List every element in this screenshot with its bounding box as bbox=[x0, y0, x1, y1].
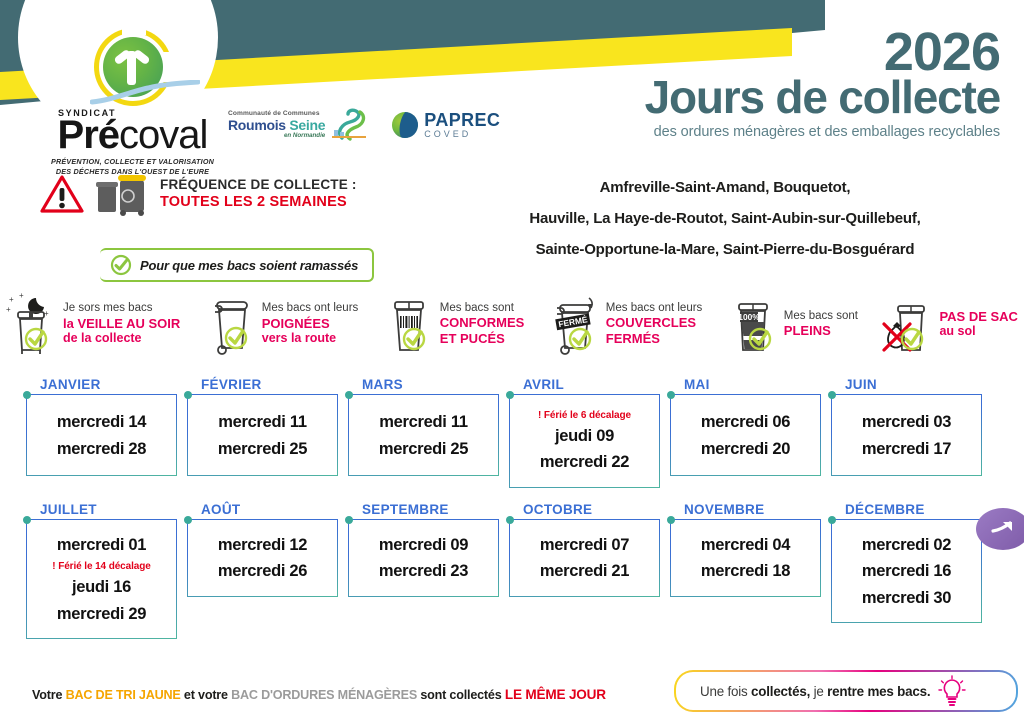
footer-bac-om: BAC D'ORDURES MÉNAGÈRES bbox=[231, 688, 417, 702]
footer-meme-jour: LE MÊME JOUR bbox=[505, 687, 606, 702]
month-corner-dot bbox=[345, 516, 353, 524]
month-name: MAI bbox=[670, 377, 710, 392]
svg-text:+: + bbox=[6, 305, 11, 314]
frequency-text: FRÉQUENCE DE COLLECTE : TOUTES LES 2 SEM… bbox=[160, 177, 357, 212]
year-label: 2026 bbox=[645, 30, 1000, 76]
arrow-right-icon bbox=[990, 518, 1016, 540]
month-corner-dot bbox=[23, 391, 31, 399]
month-name: JUIN bbox=[831, 377, 877, 392]
footer-same-day-note: Votre BAC DE TRI JAUNE et votre BAC D'OR… bbox=[32, 687, 606, 702]
month-dates-box: mercredi 03mercredi 17 bbox=[831, 394, 982, 476]
collection-date: jeudi 16 bbox=[72, 576, 131, 599]
month-name: AOÛT bbox=[187, 502, 240, 517]
collection-date: mercredi 17 bbox=[862, 438, 951, 461]
instruction-3-grey: Mes bacs ont leurs bbox=[606, 302, 703, 316]
paprec-coved-logo: PAPREC COVED bbox=[392, 111, 500, 139]
paprec-name: PAPREC bbox=[424, 111, 500, 129]
collection-calendar-poster: SYNDICAT Précoval PRÉVENTION, COLLECTE E… bbox=[0, 0, 1024, 724]
month-dates-box: mercredi 01! Férié le 14 décalagejeudi 1… bbox=[26, 519, 177, 639]
month-name: DÉCEMBRE bbox=[831, 502, 925, 517]
month-card: JUINmercredi 03mercredi 17 bbox=[831, 376, 982, 488]
collection-date: mercredi 25 bbox=[218, 438, 307, 461]
collection-date: mercredi 03 bbox=[862, 411, 951, 434]
month-corner-dot bbox=[828, 391, 836, 399]
month-dates-box: mercredi 11mercredi 25 bbox=[187, 394, 338, 476]
instruction-1-pink1: POIGNÉES bbox=[262, 316, 359, 331]
commune-line-2: Hauville, La Haye-de-Routot, Saint-Aubin… bbox=[440, 203, 1010, 234]
month-name: OCTOBRE bbox=[509, 502, 592, 517]
instruction-item-poignees: Mes bacs ont leurs POIGNÉES vers la rout… bbox=[205, 292, 359, 356]
collection-date: mercredi 01 bbox=[57, 534, 146, 557]
month-card: DÉCEMBREmercredi 02mercredi 16mercredi 3… bbox=[831, 501, 982, 639]
paprec-text: PAPREC COVED bbox=[424, 111, 500, 139]
roumois-line2: Roumois Seine bbox=[228, 118, 325, 133]
collection-date: mercredi 11 bbox=[379, 411, 467, 434]
logo-word-accent: Pré bbox=[58, 113, 120, 157]
frequency-value: TOUTES LES 2 SEMAINES bbox=[160, 193, 357, 211]
bin-closed-icon: FERMÉ bbox=[549, 292, 601, 356]
lightbulb-icon bbox=[938, 675, 966, 707]
tip-b: collectés, bbox=[751, 684, 810, 699]
instruction-2-pink1: CONFORMES bbox=[440, 315, 525, 330]
instruction-text-poignees: Mes bacs ont leurs POIGNÉES vers la rout… bbox=[262, 302, 359, 346]
partner-logos: Communauté de Communes Roumois Seine en … bbox=[228, 108, 500, 142]
instruction-4-pink1: PLEINS bbox=[784, 323, 858, 338]
month-card: JANVIERmercredi 14mercredi 28 bbox=[26, 376, 177, 488]
month-card: MARSmercredi 11mercredi 25 bbox=[348, 376, 499, 488]
svg-text:+: + bbox=[19, 292, 24, 300]
instruction-item-conformes: Mes bacs sont CONFORMES ET PUCÉS bbox=[383, 292, 525, 356]
footer-tip-pill: Une fois collectés, je rentre mes bacs. bbox=[674, 670, 1018, 712]
instruction-item-couvercles: FERMÉ Mes bacs ont leurs COUVERCLES FERM… bbox=[549, 292, 703, 356]
month-name: JUILLET bbox=[26, 502, 97, 517]
month-dates-box: mercredi 02mercredi 16mercredi 30 bbox=[831, 519, 982, 623]
collection-date: mercredi 26 bbox=[218, 560, 307, 583]
collection-date: mercredi 30 bbox=[862, 587, 951, 610]
month-corner-dot bbox=[506, 391, 514, 399]
month-name: FÉVRIER bbox=[187, 377, 262, 392]
month-corner-dot bbox=[184, 516, 192, 524]
svg-text:+: + bbox=[9, 295, 14, 304]
instruction-5-pink2: au sol bbox=[939, 324, 1018, 339]
logo-word-rest: coval bbox=[119, 113, 207, 157]
collection-date: mercredi 07 bbox=[540, 534, 629, 557]
frequency-block: FRÉQUENCE DE COLLECTE : TOUTES LES 2 SEM… bbox=[40, 172, 357, 216]
month-dates-box: mercredi 11mercredi 25 bbox=[348, 394, 499, 476]
instruction-1-grey: Mes bacs ont leurs bbox=[262, 302, 359, 316]
month-corner-dot bbox=[506, 516, 514, 524]
frequency-label: FRÉQUENCE DE COLLECTE : bbox=[160, 177, 357, 194]
month-corner-dot bbox=[667, 391, 675, 399]
logo-wordmark: Précoval bbox=[30, 116, 235, 154]
month-corner-dot bbox=[828, 516, 836, 524]
bin-handles-icon bbox=[205, 292, 257, 356]
collection-date: jeudi 09 bbox=[555, 425, 614, 448]
ramassage-banner-text: Pour que mes bacs soient ramassés bbox=[140, 258, 358, 273]
instruction-text-veille: Je sors mes bacs la VEILLE AU SOIR de la… bbox=[63, 302, 180, 346]
month-name: MARS bbox=[348, 377, 403, 392]
footer-p1: Votre bbox=[32, 688, 66, 702]
month-dates-box: mercredi 12mercredi 26 bbox=[187, 519, 338, 597]
footer-bac-jaune: BAC DE TRI JAUNE bbox=[66, 688, 181, 702]
calendar-row-2: JUILLETmercredi 01! Férié le 14 décalage… bbox=[26, 501, 998, 639]
month-dates-box: mercredi 14mercredi 28 bbox=[26, 394, 177, 476]
collection-date: mercredi 04 bbox=[701, 534, 790, 557]
instruction-3-pink1: COUVERCLES bbox=[606, 315, 703, 330]
instruction-item-pas-de-sac: PAS DE SAC au sol bbox=[882, 292, 1018, 356]
month-dates-box: mercredi 09mercredi 23 bbox=[348, 519, 499, 597]
instruction-0-pink2: de la collecte bbox=[63, 331, 180, 346]
holiday-note: ! Férié le 14 décalage bbox=[52, 560, 150, 573]
footer-tip-text: Une fois collectés, je rentre mes bacs. bbox=[700, 684, 930, 699]
collection-date: mercredi 14 bbox=[57, 411, 146, 434]
ramassage-banner: Pour que mes bacs soient ramassés bbox=[100, 248, 374, 282]
paprec-globe-icon bbox=[392, 112, 418, 138]
instruction-item-pleins: 100% Mes bacs sont PLEINS bbox=[727, 292, 858, 356]
river-swoosh-icon bbox=[90, 80, 200, 106]
instruction-4-grey: Mes bacs sont bbox=[784, 310, 858, 324]
month-corner-dot bbox=[184, 391, 192, 399]
no-bag-icon bbox=[882, 292, 934, 356]
bin-barcode-icon bbox=[383, 292, 435, 356]
collection-date: mercredi 16 bbox=[862, 560, 951, 583]
roumois-seine-mark-icon bbox=[328, 108, 370, 142]
instructions-row: ++++ Je sors mes bacs la VEILLE AU SOIR … bbox=[6, 288, 1018, 360]
calendar-grid: JANVIERmercredi 14mercredi 28FÉVRIERmerc… bbox=[26, 376, 998, 652]
check-circle-icon bbox=[110, 254, 132, 276]
month-name: NOVEMBRE bbox=[670, 502, 764, 517]
logo-ring-gap-top bbox=[122, 25, 146, 35]
month-corner-dot bbox=[23, 516, 31, 524]
cent-pourcent-label: 100% bbox=[738, 312, 760, 322]
collection-date: mercredi 02 bbox=[862, 534, 951, 557]
commune-line-1: Amfreville-Saint-Amand, Bouquetot, bbox=[440, 172, 1010, 203]
month-name: SEPTEMBRE bbox=[348, 502, 449, 517]
collection-date: mercredi 18 bbox=[701, 560, 790, 583]
month-card: AVRIL! Férié le 6 décalagejeudi 09mercre… bbox=[509, 376, 660, 488]
collection-date: mercredi 11 bbox=[218, 411, 306, 434]
roumois-seine-logo: Communauté de Communes Roumois Seine en … bbox=[228, 108, 370, 142]
month-card: AOÛTmercredi 12mercredi 26 bbox=[187, 501, 338, 639]
page-subtitle: des ordures ménagères et des emballages … bbox=[645, 124, 1000, 140]
collection-date: mercredi 25 bbox=[379, 438, 468, 461]
bin-full-icon: 100% bbox=[727, 292, 779, 356]
instruction-text-couvercles: Mes bacs ont leurs COUVERCLES FERMÉS bbox=[606, 302, 703, 346]
two-bins-icon bbox=[94, 172, 150, 216]
tip-d: rentre mes bacs. bbox=[827, 684, 930, 699]
month-card: MAImercredi 06mercredi 20 bbox=[670, 376, 821, 488]
month-card: FÉVRIERmercredi 11mercredi 25 bbox=[187, 376, 338, 488]
collection-date: mercredi 21 bbox=[540, 560, 629, 583]
collection-date: mercredi 28 bbox=[57, 438, 146, 461]
month-corner-dot bbox=[345, 391, 353, 399]
footer-p5: sont collectés bbox=[417, 688, 505, 702]
collection-date: mercredi 29 bbox=[57, 603, 146, 626]
roumois-line3: en Normandie bbox=[228, 133, 325, 140]
collection-date: mercredi 06 bbox=[701, 411, 790, 434]
collection-date: mercredi 12 bbox=[218, 534, 307, 557]
page-title: Jours de collecte bbox=[645, 74, 1000, 120]
instruction-1-pink2: vers la route bbox=[262, 331, 359, 346]
instruction-text-conformes: Mes bacs sont CONFORMES ET PUCÉS bbox=[440, 302, 525, 346]
roumois-word: Roumois bbox=[228, 117, 289, 133]
month-card: OCTOBREmercredi 07mercredi 21 bbox=[509, 501, 660, 639]
instruction-0-grey: Je sors mes bacs bbox=[63, 302, 180, 316]
logo-tagline-line1: PRÉVENTION, COLLECTE ET VALORISATION bbox=[30, 157, 235, 167]
calendar-row-1: JANVIERmercredi 14mercredi 28FÉVRIERmerc… bbox=[26, 376, 998, 488]
tip-a: Une fois bbox=[700, 684, 751, 699]
poster-title-block: 2026 Jours de collecte des ordures ménag… bbox=[645, 30, 1000, 140]
bin-night-icon: ++++ bbox=[6, 292, 58, 356]
month-dates-box: mercredi 04mercredi 18 bbox=[670, 519, 821, 597]
collection-date: mercredi 20 bbox=[701, 438, 790, 461]
month-corner-dot bbox=[667, 516, 675, 524]
collection-date: mercredi 09 bbox=[379, 534, 468, 557]
instruction-5-pink1: PAS DE SAC bbox=[939, 309, 1018, 324]
instruction-2-pink2: ET PUCÉS bbox=[440, 331, 525, 346]
instruction-0-pink1: la VEILLE AU SOIR bbox=[63, 316, 180, 331]
precoval-logo: SYNDICAT Précoval PRÉVENTION, COLLECTE E… bbox=[30, 28, 235, 176]
coved-name: COVED bbox=[424, 130, 500, 139]
month-dates-box: mercredi 07mercredi 21 bbox=[509, 519, 660, 597]
footer-p3: et votre bbox=[181, 688, 232, 702]
footer-tip-inner: Une fois collectés, je rentre mes bacs. bbox=[676, 672, 1016, 710]
next-arrow-button[interactable] bbox=[976, 508, 1024, 550]
instruction-text-pas-de-sac: PAS DE SAC au sol bbox=[939, 309, 1018, 339]
instruction-3-pink2: FERMÉS bbox=[606, 331, 703, 346]
instruction-2-grey: Mes bacs sont bbox=[440, 302, 525, 316]
collection-date: mercredi 22 bbox=[540, 451, 629, 474]
collection-date: mercredi 23 bbox=[379, 560, 468, 583]
communes-list: Amfreville-Saint-Amand, Bouquetot, Hauvi… bbox=[440, 172, 1010, 266]
holiday-note: ! Férié le 6 décalage bbox=[538, 409, 631, 422]
month-card: NOVEMBREmercredi 04mercredi 18 bbox=[670, 501, 821, 639]
month-dates-box: mercredi 06mercredi 20 bbox=[670, 394, 821, 476]
month-name: AVRIL bbox=[509, 377, 564, 392]
instruction-text-pleins: Mes bacs sont PLEINS bbox=[784, 310, 858, 339]
month-dates-box: ! Férié le 6 décalagejeudi 09mercredi 22 bbox=[509, 394, 660, 488]
month-card: SEPTEMBREmercredi 09mercredi 23 bbox=[348, 501, 499, 639]
seine-word: Seine bbox=[289, 117, 325, 133]
roumois-seine-text: Communauté de Communes Roumois Seine en … bbox=[228, 111, 325, 139]
warning-triangle-icon bbox=[40, 174, 84, 214]
instruction-item-veille: ++++ Je sors mes bacs la VEILLE AU SOIR … bbox=[6, 292, 180, 356]
month-name: JANVIER bbox=[26, 377, 101, 392]
tip-c: je bbox=[810, 684, 827, 699]
commune-line-3: Sainte-Opportune-la-Mare, Saint-Pierre-d… bbox=[440, 234, 1010, 265]
month-card: JUILLETmercredi 01! Férié le 14 décalage… bbox=[26, 501, 177, 639]
